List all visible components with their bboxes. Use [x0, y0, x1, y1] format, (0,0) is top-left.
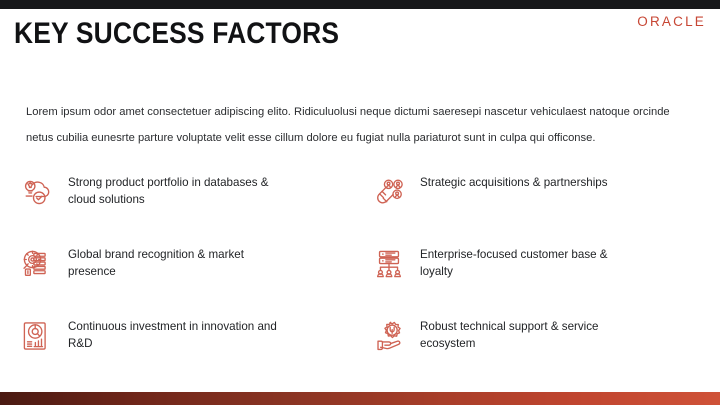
feature-item[interactable]: Enterprise-focused customer base & loyal… — [366, 244, 706, 316]
feature-item[interactable]: Global brand recognition & market presen… — [14, 244, 354, 316]
feature-item[interactable]: Strategic acquisitions & partnerships — [366, 172, 706, 244]
server-users-hierarchy-icon — [370, 245, 408, 283]
slide-canvas: KEY SUCCESS FACTORS ORACLE Lorem ipsum o… — [0, 0, 720, 405]
feature-label: Continuous investment in innovation and … — [68, 316, 283, 352]
cloud-lightbulb-check-icon — [18, 173, 56, 211]
hand-gear-wrench-icon — [370, 317, 408, 355]
feature-grid: Strong product portfolio in databases & … — [14, 172, 706, 388]
top-accent-bar — [0, 0, 720, 9]
oracle-logo: ORACLE — [637, 14, 706, 29]
feature-item[interactable]: Robust technical support & service ecosy… — [366, 316, 706, 388]
report-chart-document-icon — [18, 317, 56, 355]
feature-label: Robust technical support & service ecosy… — [420, 316, 635, 352]
bottom-accent-bar — [0, 392, 720, 405]
feature-item[interactable]: Strong product portfolio in databases & … — [14, 172, 354, 244]
feature-label: Strong product portfolio in databases & … — [68, 172, 283, 208]
magnifier-gear-documents-icon — [18, 245, 56, 283]
feature-item[interactable]: Continuous investment in innovation and … — [14, 316, 354, 388]
intro-paragraph: Lorem ipsum odor amet consectetuer adipi… — [26, 99, 688, 151]
feature-label: Enterprise-focused customer base & loyal… — [420, 244, 635, 280]
page-title: KEY SUCCESS FACTORS — [14, 17, 339, 51]
feature-label: Strategic acquisitions & partnerships — [420, 172, 608, 192]
feature-label: Global brand recognition & market presen… — [68, 244, 283, 280]
magnet-network-people-icon — [370, 173, 408, 211]
